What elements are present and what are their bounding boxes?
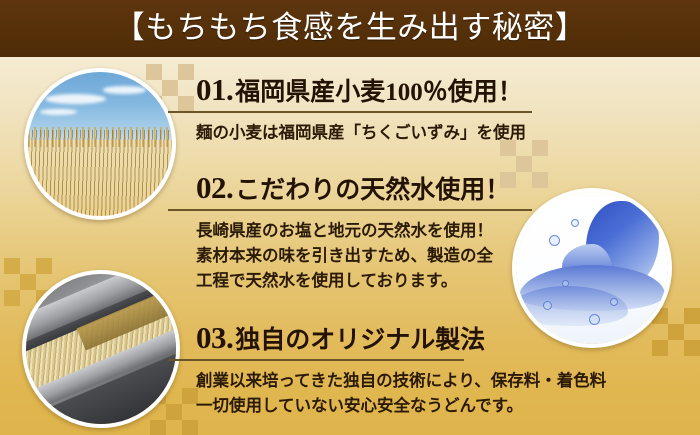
wheat-stalks bbox=[28, 130, 172, 216]
section-divider bbox=[168, 209, 532, 211]
section-body: 麺の小麦は福岡県産「ちくごいずみ」を使用 bbox=[196, 120, 532, 145]
feature-section-01: 01. 福岡県産小麦100％使用！ 麺の小麦は福岡県産「ちくごいずみ」を使用 bbox=[196, 74, 532, 145]
section-number: 01. bbox=[196, 74, 233, 105]
section-body: 創業以来培ってきた独自の技術により、保存料・着色料 一切使用していない安心安全な… bbox=[196, 368, 606, 418]
water-bubble bbox=[562, 280, 569, 287]
water-bubble bbox=[549, 235, 560, 246]
section-heading: 01. 福岡県産小麦100％使用！ bbox=[196, 74, 532, 105]
wheat-field-photo bbox=[24, 68, 176, 220]
section-number: 03. bbox=[196, 322, 233, 353]
body-line: 工程で天然水を使用しております。 bbox=[196, 268, 532, 293]
section-body: 長崎県産のお塩と地元の天然水を使用！ 素材本来の味を引き出すため、製造の全 工程… bbox=[196, 218, 532, 293]
body-line: 一切使用していない安心安全なうどんです。 bbox=[196, 393, 606, 418]
section-heading-text: こだわりの天然水使用！ bbox=[235, 178, 510, 203]
section-divider bbox=[168, 359, 464, 361]
body-line: 長崎県産のお塩と地元の天然水を使用！ bbox=[196, 218, 532, 243]
section-heading-text: 福岡県産小麦100％使用！ bbox=[235, 80, 523, 105]
page-title: 【もちもち食感を生み出す秘密】 bbox=[0, 0, 700, 57]
section-number: 02. bbox=[196, 172, 233, 203]
body-line: 素材本来の味を引き出すため、製造の全 bbox=[196, 243, 532, 268]
noodle-factory-photo bbox=[22, 270, 180, 428]
section-heading-text: 独自のオリジナル製法 bbox=[235, 328, 485, 353]
body-line: 麺の小麦は福岡県産「ちくごいずみ」を使用 bbox=[196, 120, 532, 145]
section-heading: 03. 独自のオリジナル製法 bbox=[196, 322, 606, 353]
feature-section-02: 02. こだわりの天然水使用！ 長崎県産のお塩と地元の天然水を使用！ 素材本来の… bbox=[196, 172, 532, 293]
promotional-poster: 【もちもち食感を生み出す秘密】 bbox=[0, 0, 700, 435]
feature-section-03: 03. 独自のオリジナル製法 創業以来培ってきた独自の技術により、保存料・着色料… bbox=[196, 322, 606, 418]
section-divider bbox=[168, 111, 532, 113]
body-line: 創業以来培ってきた独自の技術により、保存料・着色料 bbox=[196, 368, 606, 393]
cloud-shape bbox=[45, 94, 105, 104]
cloud-shape bbox=[103, 86, 146, 93]
section-heading: 02. こだわりの天然水使用！ bbox=[196, 172, 532, 203]
